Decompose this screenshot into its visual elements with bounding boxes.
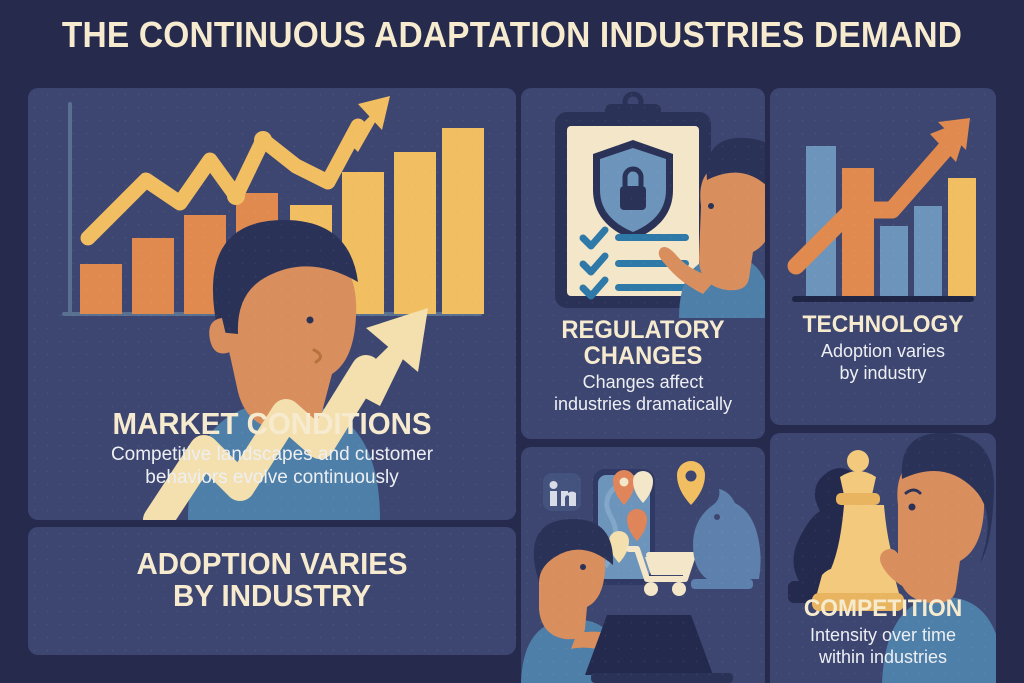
clip-ring xyxy=(625,94,641,110)
bar-7 xyxy=(394,152,436,314)
chess-knight-icon xyxy=(691,489,761,589)
tech-bar-3 xyxy=(880,226,908,296)
competition-illustration xyxy=(770,433,996,683)
panel-market-conditions[interactable] xyxy=(28,88,516,520)
panel-competition[interactable] xyxy=(770,433,996,683)
y-axis xyxy=(68,102,72,314)
linkedin-icon xyxy=(543,473,581,511)
market-conditions-illustration xyxy=(28,88,516,520)
laptop-screen xyxy=(585,615,713,675)
technology-baseline xyxy=(792,296,974,302)
panel-technology[interactable] xyxy=(770,88,996,425)
panel-adoption-varies[interactable] xyxy=(28,527,516,655)
social-digital-illustration xyxy=(521,447,765,683)
page-title: THE CONTINUOUS ADAPTATION INDUSTRIES DEM… xyxy=(36,14,988,56)
infographic-canvas: THE CONTINUOUS ADAPTATION INDUSTRIES DEM… xyxy=(0,0,1024,683)
clipboard-clip xyxy=(605,104,661,126)
regulatory-changes-illustration xyxy=(521,88,765,439)
panel-regulatory-changes[interactable] xyxy=(521,88,765,439)
technology-illustration xyxy=(770,88,996,425)
bar-1 xyxy=(80,264,122,314)
tech-bar-2 xyxy=(842,168,874,296)
laptop-base xyxy=(591,673,733,683)
tech-bar-4 xyxy=(914,206,942,296)
person-figure-woman xyxy=(880,433,996,683)
tech-bar-5 xyxy=(948,178,976,296)
panel-social-digital[interactable] xyxy=(521,447,765,683)
bar-2 xyxy=(132,238,174,314)
bar-8 xyxy=(442,128,484,314)
